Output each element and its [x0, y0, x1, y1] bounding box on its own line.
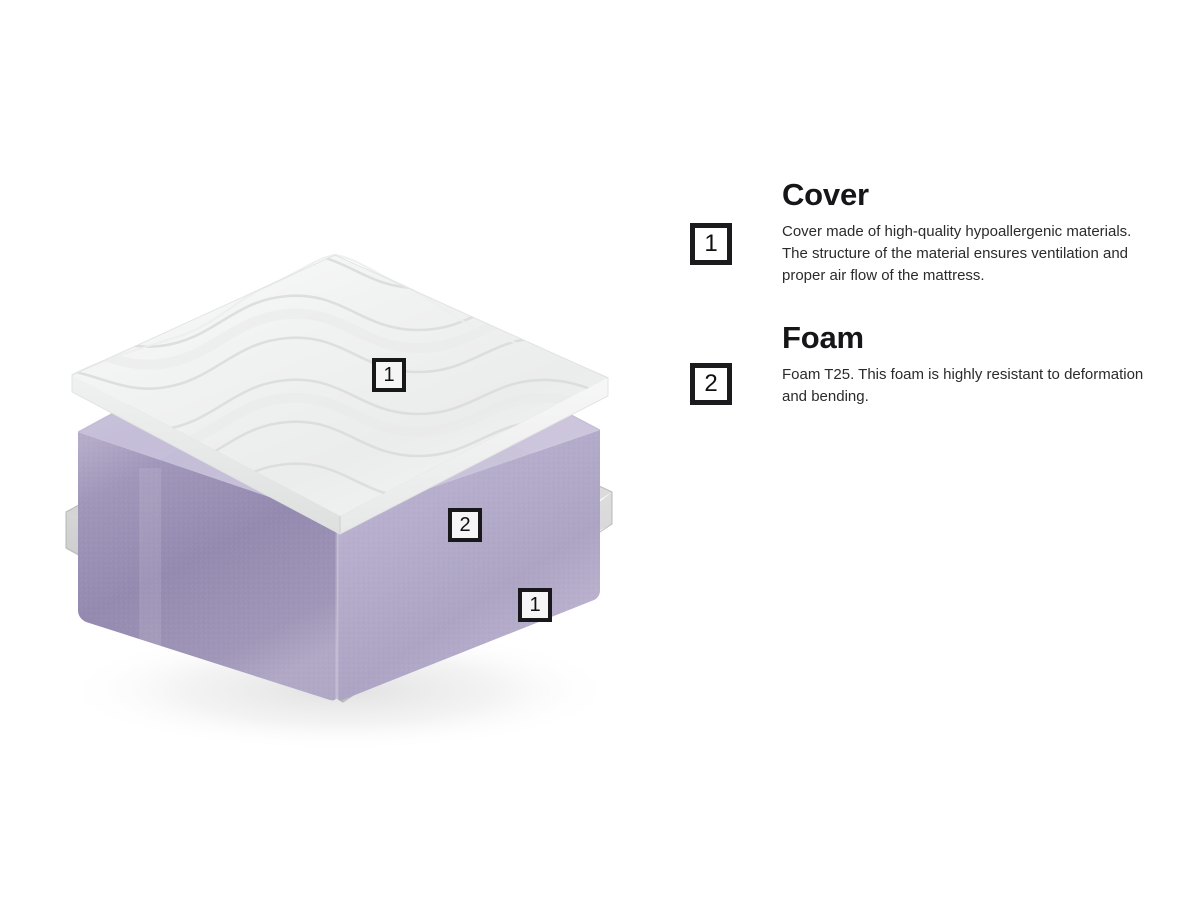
marker-foam-value: 2: [452, 512, 478, 538]
legend-item-cover: 1 Cover Cover made of high-quality hypoa…: [690, 178, 1160, 287]
diagram-canvas: 1 2 1 1 Cover Cover made of high-quality…: [0, 0, 1200, 899]
marker-cover-top: 1: [372, 358, 406, 392]
legend-text-cover: Cover Cover made of high-quality hypoall…: [782, 178, 1160, 287]
marker-cover-base: 1: [518, 588, 552, 622]
legend-title-cover: Cover: [782, 178, 1160, 212]
legend-description-foam: Foam T25. This foam is highly resistant …: [782, 364, 1152, 408]
marker-cover-top-value: 1: [376, 362, 402, 388]
legend-title-foam: Foam: [782, 321, 1160, 355]
legend-badge-foam-value: 2: [704, 370, 717, 397]
legend-badge-cover: 1: [690, 223, 732, 265]
marker-cover-base-value: 1: [522, 592, 548, 618]
legend-text-foam: Foam Foam T25. This foam is highly resis…: [782, 321, 1160, 408]
legend-description-cover: Cover made of high-quality hypoallergeni…: [782, 221, 1152, 287]
legend-panel: 1 Cover Cover made of high-quality hypoa…: [690, 178, 1160, 442]
legend-item-foam: 2 Foam Foam T25. This foam is highly res…: [690, 321, 1160, 408]
mattress-cutaway-illustration: 1 2 1: [0, 0, 660, 899]
legend-badge-cover-value: 1: [704, 230, 717, 257]
marker-foam: 2: [448, 508, 482, 542]
legend-badge-foam: 2: [690, 363, 732, 405]
